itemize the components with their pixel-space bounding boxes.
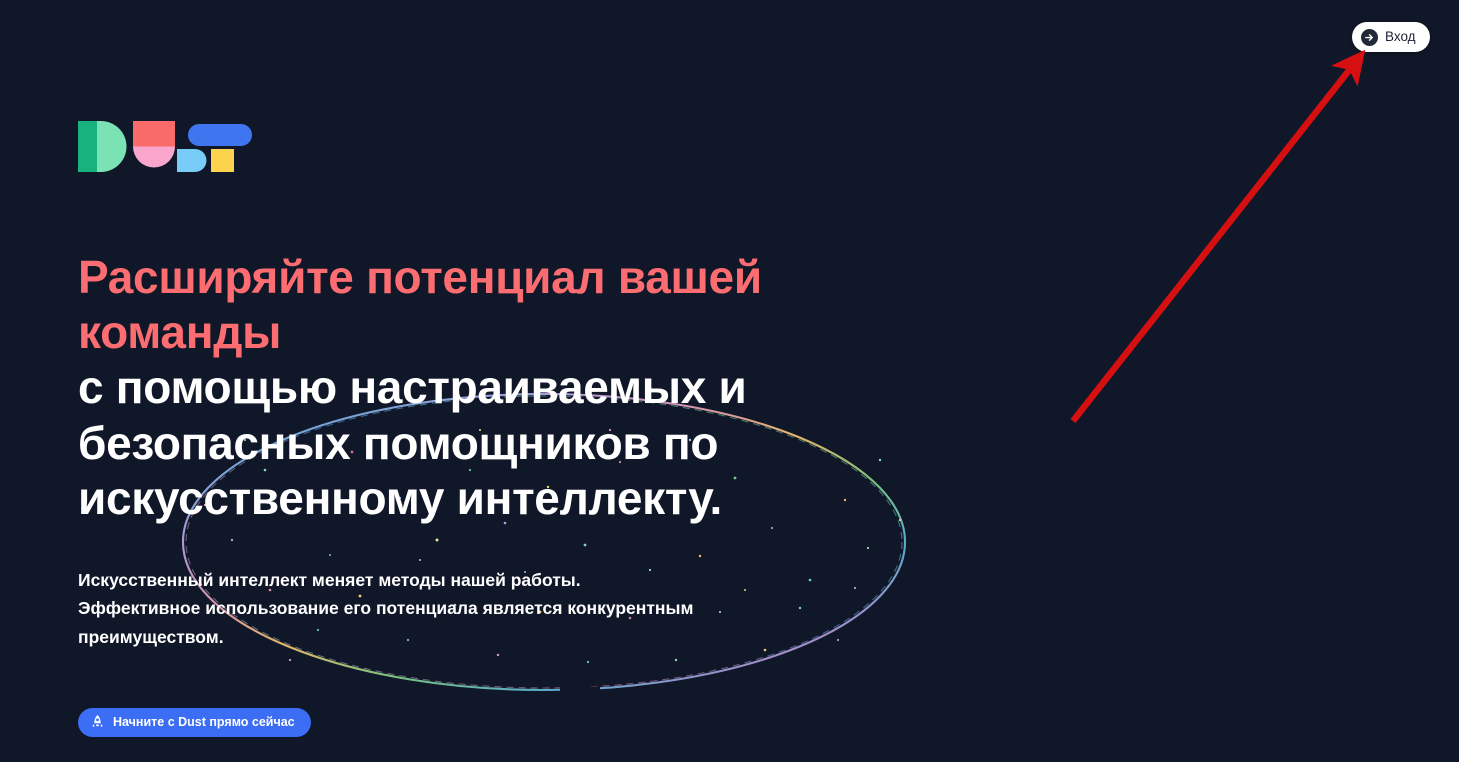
dust-logo[interactable] — [78, 121, 252, 172]
headline-line-2: команды — [78, 305, 898, 360]
headline-line-4: безопасных помощников по — [78, 416, 898, 471]
logo-u-bowl — [133, 147, 175, 168]
paragraph-line-1: Искусственный интеллект меняет методы на… — [78, 566, 1008, 594]
headline-line-5: искусственному интеллекту. — [78, 471, 898, 526]
arrow-shaft — [1073, 64, 1354, 421]
logo-d-bowl — [97, 121, 127, 172]
logo-u-top — [133, 121, 175, 147]
login-arrow-icon — [1361, 29, 1378, 46]
cta-button-label: Начните с Dust прямо сейчас — [113, 716, 295, 729]
login-button[interactable]: Вход — [1352, 22, 1430, 52]
logo-t-bar — [188, 124, 252, 146]
headline-line-3: с помощью настраиваемых и — [78, 360, 898, 415]
page-title: Расширяйте потенциал вашей команды с пом… — [78, 250, 898, 526]
login-button-label: Вход — [1385, 30, 1416, 44]
start-with-dust-button[interactable]: Начните с Dust прямо сейчас — [78, 708, 311, 737]
hero-paragraph: Искусственный интеллект меняет методы на… — [78, 566, 1008, 651]
logo-d-stem — [78, 121, 97, 172]
logo-s-pill — [177, 149, 206, 172]
paragraph-line-2: Эффективное использование его потенциала… — [78, 594, 1008, 622]
landing-page: Вход Расширяйте потенциал вашей команды … — [0, 0, 1459, 762]
logo-t-stem — [211, 149, 234, 172]
rocket-icon — [91, 715, 104, 730]
paragraph-line-3: преимуществом. — [78, 623, 1008, 651]
headline-line-1: Расширяйте потенциал вашей — [78, 250, 898, 305]
